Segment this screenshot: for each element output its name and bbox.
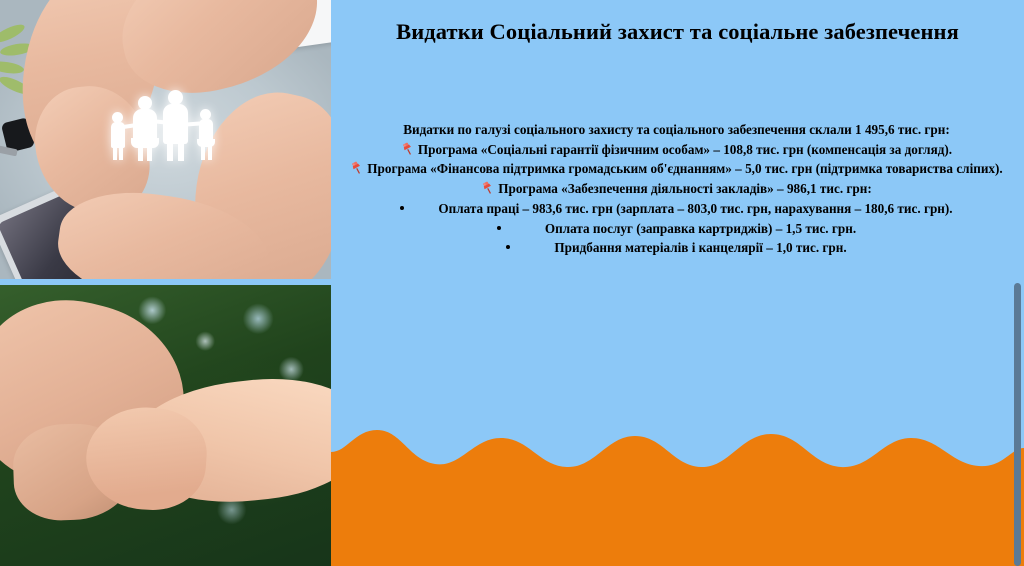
photo-family-protection (0, 0, 331, 279)
list-item-text: Програма «Фінансова підтримка громадськи… (367, 161, 1002, 176)
dot-bullet-icon (506, 245, 510, 249)
list-item-detail-2: Оплата послуг (заправка картриджів) – 1,… (343, 220, 1010, 239)
dot-bullet-icon (497, 226, 501, 230)
list-item-program-3: Програма «Забезпечення діяльності заклад… (343, 180, 1010, 199)
list-item-text: Програма «Соціальні гарантії фізичним ос… (418, 142, 952, 157)
intro-line: Видатки по галузі соціального захисту та… (343, 121, 1010, 140)
list-item-text: Придбання матеріалів і канцелярії – 1,0 … (554, 240, 846, 255)
list-item-detail-3: Придбання матеріалів і канцелярії – 1,0 … (343, 239, 1010, 258)
list-item-program-2: Програма «Фінансова підтримка громадськи… (343, 160, 1010, 179)
pushpin-icon (350, 160, 365, 174)
page-title: Видатки Соціальний захист та соціальне з… (339, 19, 1016, 44)
vertical-scrollbar-thumb[interactable] (1014, 283, 1021, 566)
list-item-text: Оплата послуг (заправка картриджів) – 1,… (545, 221, 856, 236)
list-item-program-1: Програма «Соціальні гарантії фізичним ос… (343, 141, 1010, 160)
pushpin-icon (481, 180, 496, 194)
orange-scalloped-wave (331, 420, 1024, 566)
pushpin-icon (401, 141, 416, 155)
body-text-block: Видатки по галузі соціального захисту та… (343, 121, 1010, 259)
photo-column (0, 0, 331, 566)
paper-family-cutout (100, 86, 224, 170)
list-item-text: Оплата праці – 983,6 тис. грн (зарплата … (438, 201, 952, 216)
slide-canvas: Видатки Соціальний захист та соціальне з… (0, 0, 1024, 566)
list-item-text: Програма «Забезпечення діяльності заклад… (498, 181, 872, 196)
dot-bullet-icon (400, 206, 404, 210)
photo-holding-hands (0, 285, 331, 566)
list-item-detail-1: Оплата праці – 983,6 тис. грн (зарплата … (343, 200, 1010, 219)
